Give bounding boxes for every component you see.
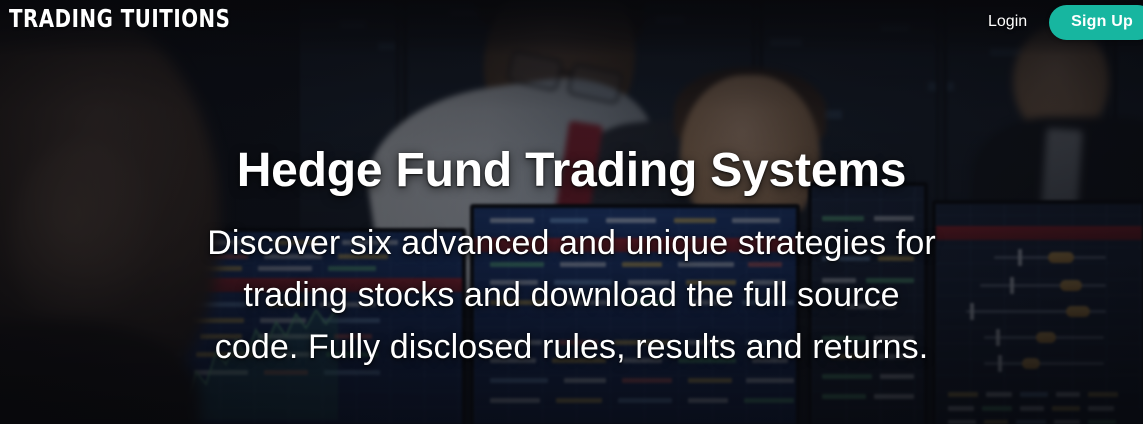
hero-background-image — [0, 0, 1143, 424]
signup-button[interactable]: Sign Up — [1049, 5, 1143, 40]
top-navigation-bar: TRADING TUITIONS Login Sign Up — [0, 0, 1143, 44]
image-darkening-overlay — [0, 0, 1143, 424]
site-logo[interactable]: TRADING TUITIONS — [9, 6, 230, 32]
nav-actions: Login Sign Up — [988, 0, 1143, 44]
hero-banner: TRADING TUITIONS Login Sign Up Hedge Fun… — [0, 0, 1143, 424]
login-link[interactable]: Login — [988, 13, 1027, 31]
